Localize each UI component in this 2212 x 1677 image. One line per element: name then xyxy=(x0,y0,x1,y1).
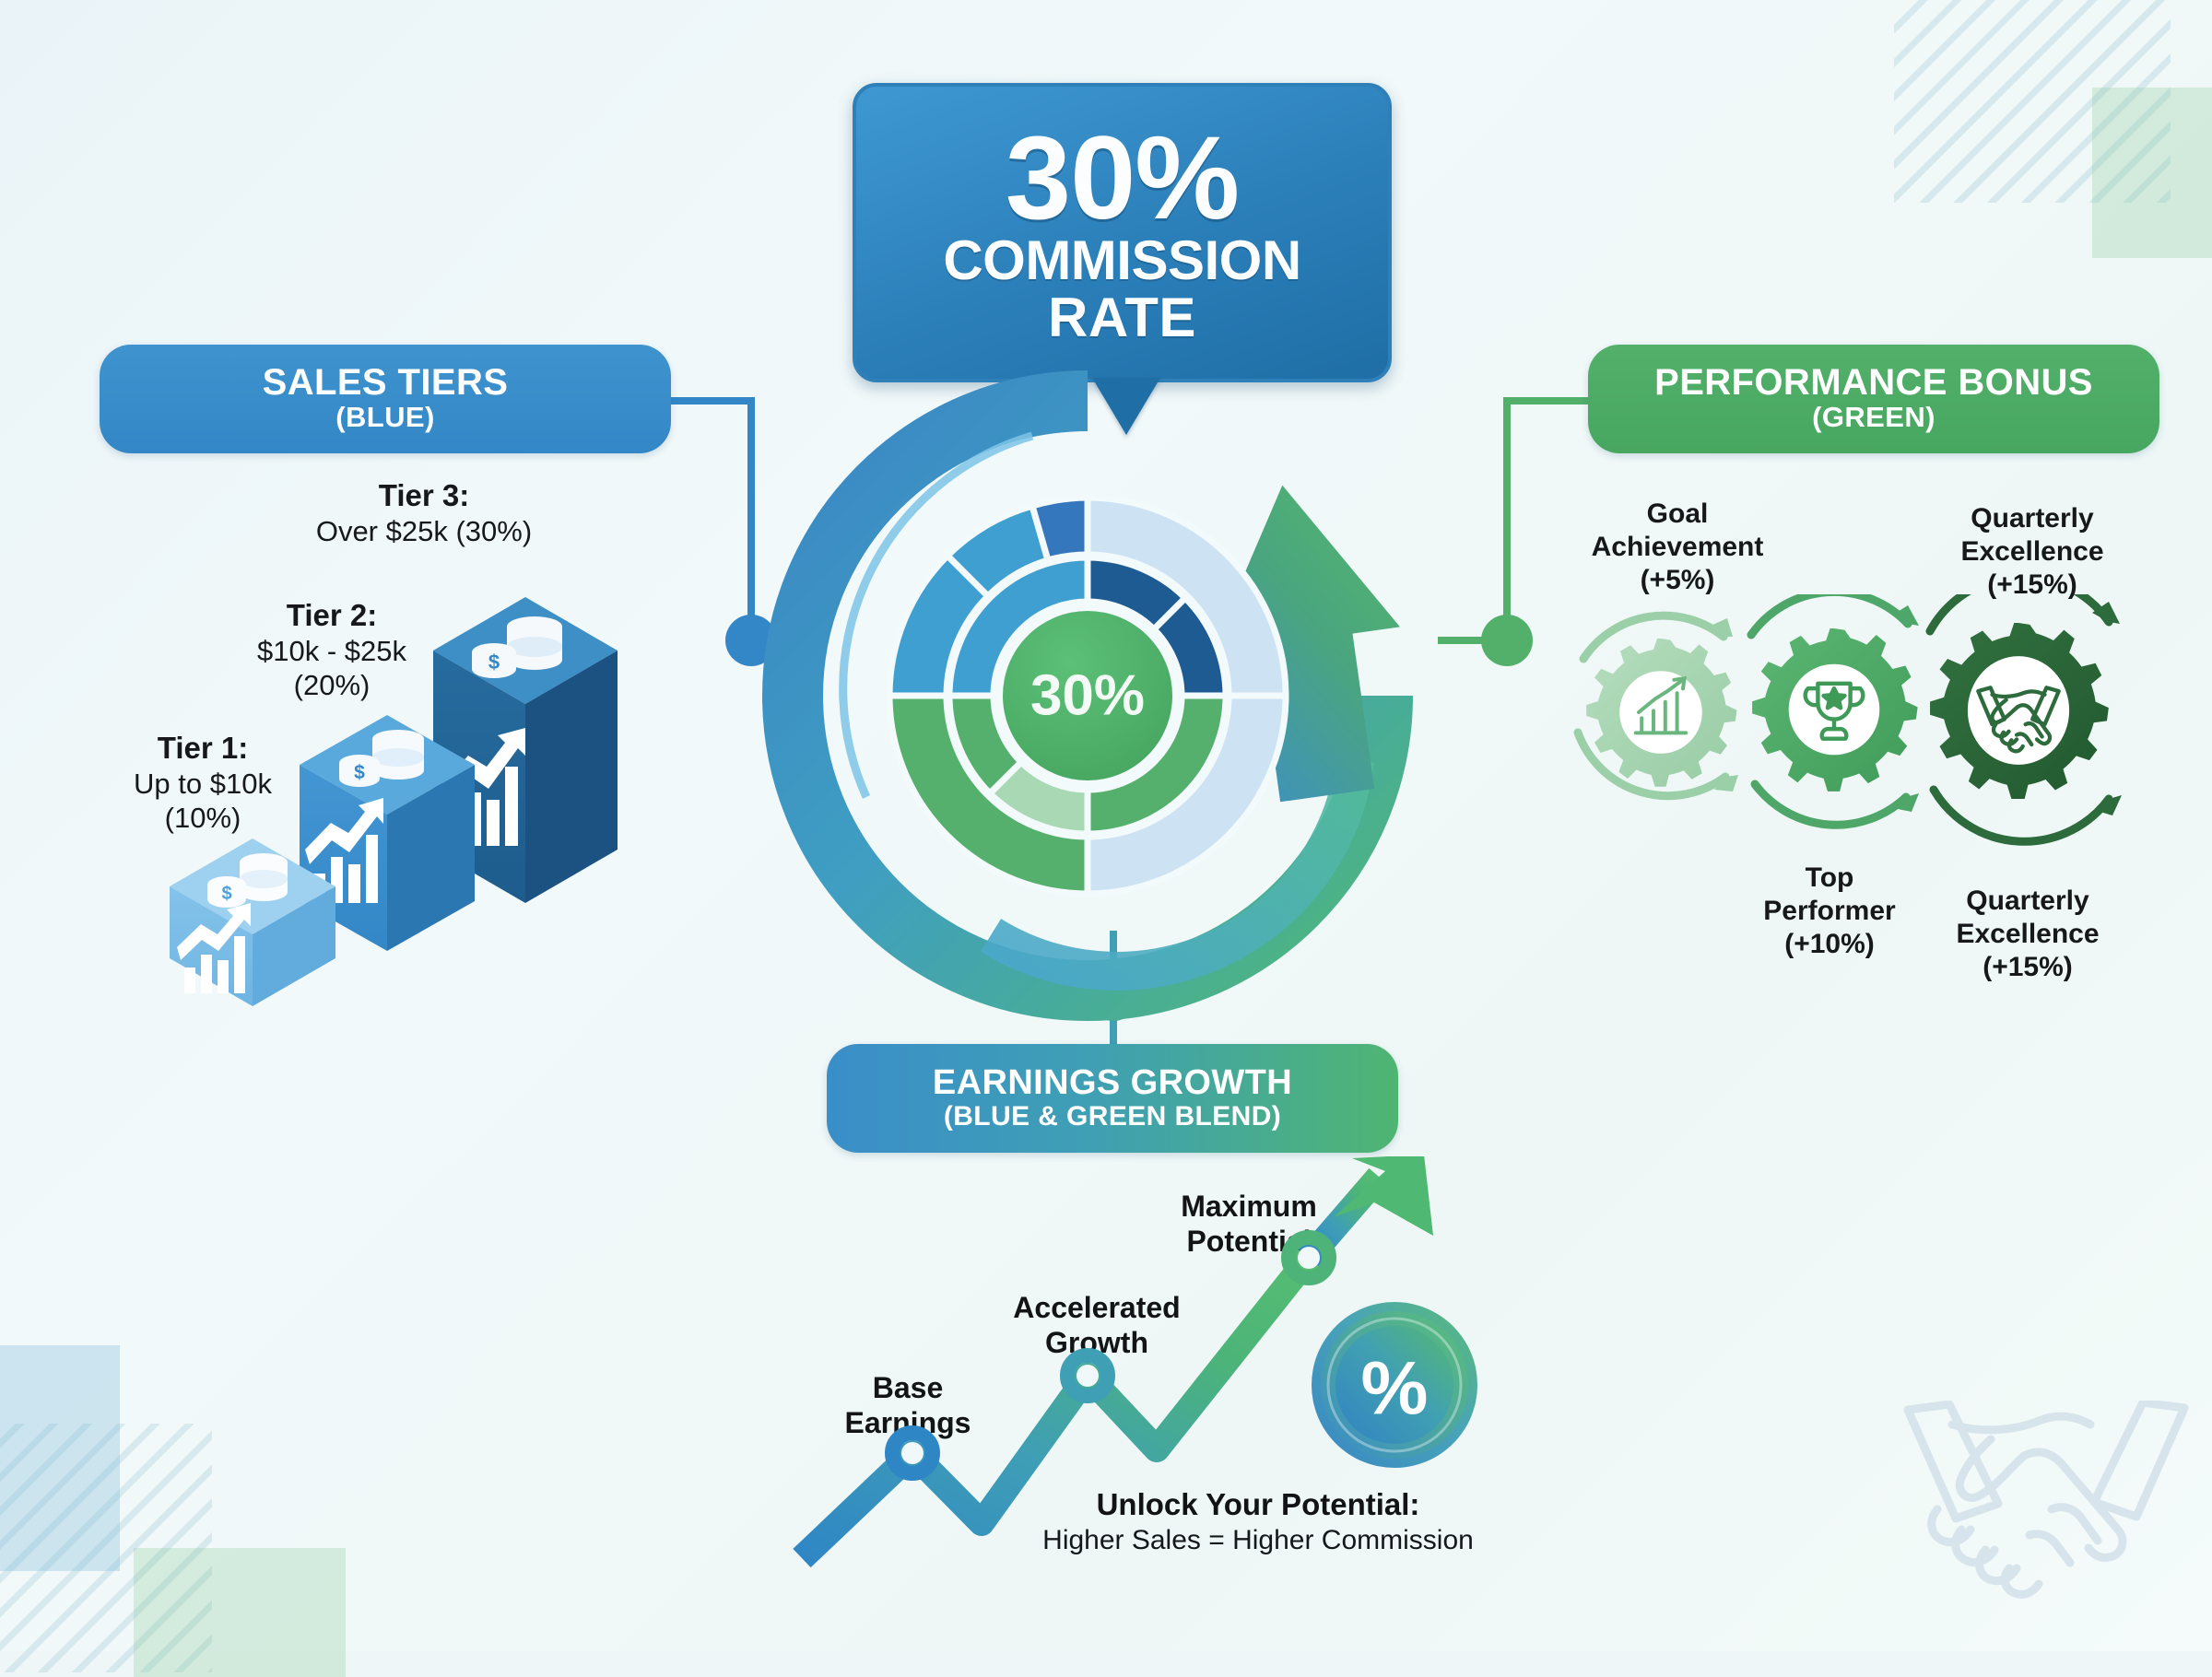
cta-block: Unlock Your Potential: Higher Sales = Hi… xyxy=(1000,1486,1516,1557)
svg-text:$: $ xyxy=(488,651,500,674)
bonus-quarterly-excellence-bottom-label: Quarterly Excellence (+15%) xyxy=(1899,885,2157,984)
bonus-4-line2: Excellence xyxy=(1899,918,2157,951)
bonus-1-line2: Achievement xyxy=(1539,531,1816,564)
svg-text:$: $ xyxy=(221,884,231,904)
panel-growth-title: EARNINGS GROWTH xyxy=(933,1065,1292,1101)
bonus-3-line1: Quarterly xyxy=(1908,502,2157,535)
panel-growth-subtitle: (BLUE & GREEN BLEND) xyxy=(944,1101,1281,1132)
stripe-block-top-right xyxy=(1894,0,2171,203)
bonus-gears-graphic xyxy=(1558,594,2184,889)
center-donut-graphic: 30% xyxy=(756,364,1419,1027)
handshake-watermark-icon xyxy=(1880,1401,2212,1651)
bonus-1-value: (+5%) xyxy=(1539,564,1816,597)
panel-performance-bonus[interactable]: PERFORMANCE BONUS (GREEN) xyxy=(1588,345,2159,453)
headline-percent: 30% xyxy=(1006,124,1239,233)
gear-quarterly-excellence xyxy=(1930,623,2109,799)
panel-sales-tiers[interactable]: SALES TIERS (BLUE) xyxy=(100,345,671,453)
percent-coin-icon: % xyxy=(1307,1297,1482,1472)
bonus-4-value: (+15%) xyxy=(1899,951,2157,984)
coin-percent-symbol: % xyxy=(1361,1347,1429,1431)
tier-3-name: Tier 3: xyxy=(276,477,571,514)
cta-subtitle: Higher Sales = Higher Commission xyxy=(1000,1523,1516,1558)
green-square-bottom-left xyxy=(134,1548,346,1677)
panel-sales-subtitle: (BLUE) xyxy=(335,402,434,434)
headline-line1: COMMISSION xyxy=(943,232,1300,288)
bonus-3-line2: Excellence xyxy=(1908,535,2157,569)
gear-top-performer xyxy=(1752,628,1918,792)
panel-sales-title: SALES TIERS xyxy=(263,364,509,402)
center-percent-label: 30% xyxy=(1030,664,1145,728)
blue-square-bottom-left xyxy=(0,1345,120,1571)
sales-tier-bars-chart: $ $ xyxy=(157,534,691,1023)
infographic-canvas: 30% COMMISSION RATE xyxy=(0,0,2212,1651)
headline-line2: RATE xyxy=(1048,288,1196,346)
bonus-quarterly-excellence-top-label: Quarterly Excellence (+15%) xyxy=(1908,502,2157,602)
headline-badge: 30% COMMISSION RATE xyxy=(853,83,1392,382)
cta-title: Unlock Your Potential: xyxy=(1000,1486,1516,1523)
panel-bonus-title: PERFORMANCE BONUS xyxy=(1654,364,2093,402)
panel-earnings-growth[interactable]: EARNINGS GROWTH (BLUE & GREEN BLEND) xyxy=(827,1044,1398,1153)
svg-text:$: $ xyxy=(354,762,365,783)
stripe-block-bottom-left xyxy=(0,1424,212,1672)
green-square-top-right xyxy=(2092,88,2212,258)
bonus-4-line1: Quarterly xyxy=(1899,885,2157,918)
bonus-1-line1: Goal xyxy=(1539,498,1816,531)
gear-goal-achievement xyxy=(1586,639,1736,787)
panel-bonus-subtitle: (GREEN) xyxy=(1812,402,1935,434)
bonus-goal-achievement-label: Goal Achievement (+5%) xyxy=(1539,498,1816,597)
